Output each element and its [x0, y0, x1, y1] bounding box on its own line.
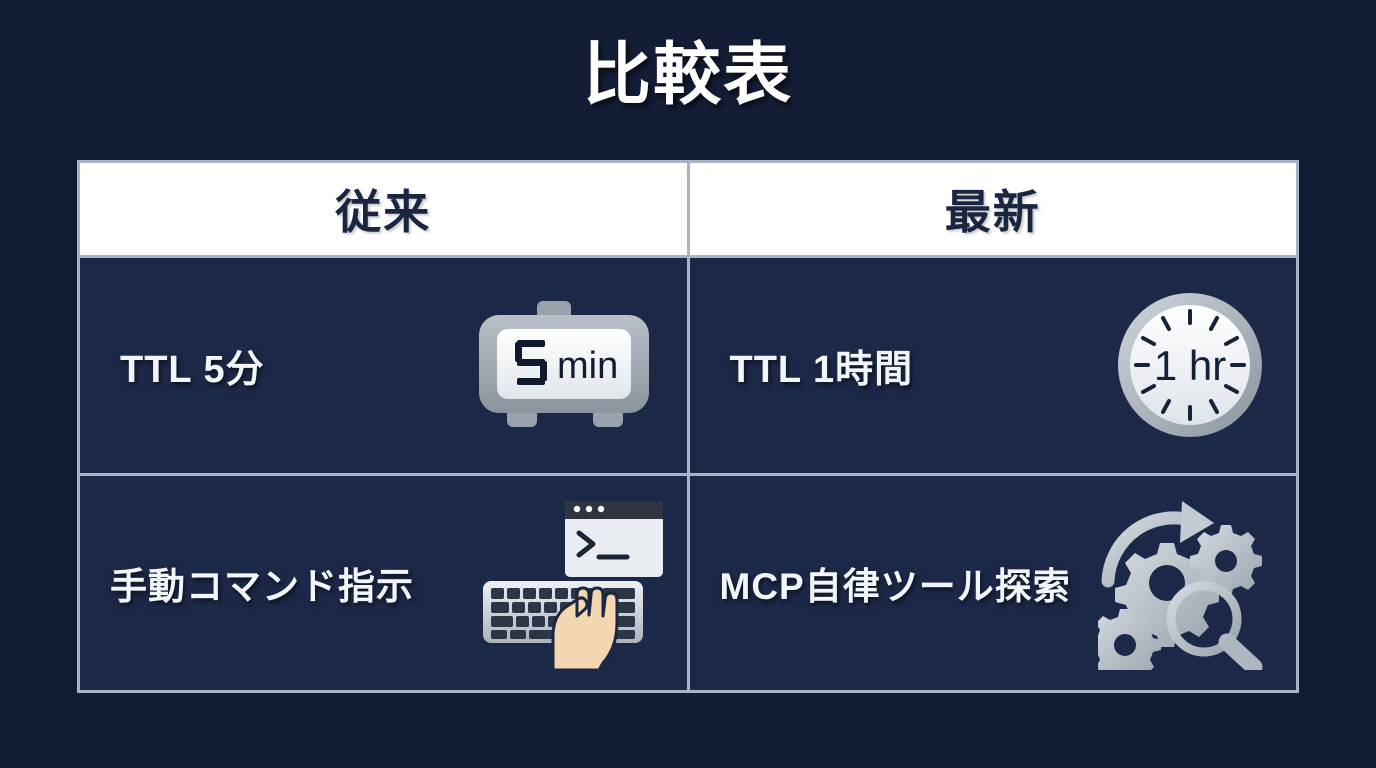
digital-timer-icon: min: [465, 295, 661, 435]
table-header-label: 従来: [335, 176, 431, 242]
table-cell-command-latest: MCP自律ツール探索: [690, 476, 1297, 691]
table-row: 手動コマンド指示: [80, 476, 1296, 691]
cell-label: TTL 1時間: [730, 338, 914, 393]
table-cell-ttl-conventional: TTL 5分: [80, 258, 687, 473]
analog-clock-icon: 1 hr: [1110, 285, 1270, 445]
table-header-cell-latest: 最新: [690, 163, 1297, 255]
cell-label: TTL 5分: [120, 338, 265, 393]
svg-text:min: min: [557, 345, 618, 387]
table-header-row: 従来 最新: [80, 163, 1296, 255]
page-title: 比較表: [0, 34, 1376, 116]
comparison-table: 従来 最新 TTL 5分: [77, 160, 1299, 693]
gears-magnifier-icon: [1098, 495, 1278, 670]
table-header-label: 最新: [945, 176, 1041, 242]
table-row: TTL 5分: [80, 258, 1296, 473]
cell-label: MCP自律ツール探索: [720, 556, 1071, 610]
keyboard-terminal-hand-icon: [479, 495, 669, 670]
table-header-cell-conventional: 従来: [80, 163, 687, 255]
cell-label: 手動コマンド指示: [110, 556, 414, 610]
svg-text:1 hr: 1 hr: [1154, 342, 1226, 389]
table-cell-ttl-latest: TTL 1時間: [690, 258, 1297, 473]
table-cell-command-conventional: 手動コマンド指示: [80, 476, 687, 691]
